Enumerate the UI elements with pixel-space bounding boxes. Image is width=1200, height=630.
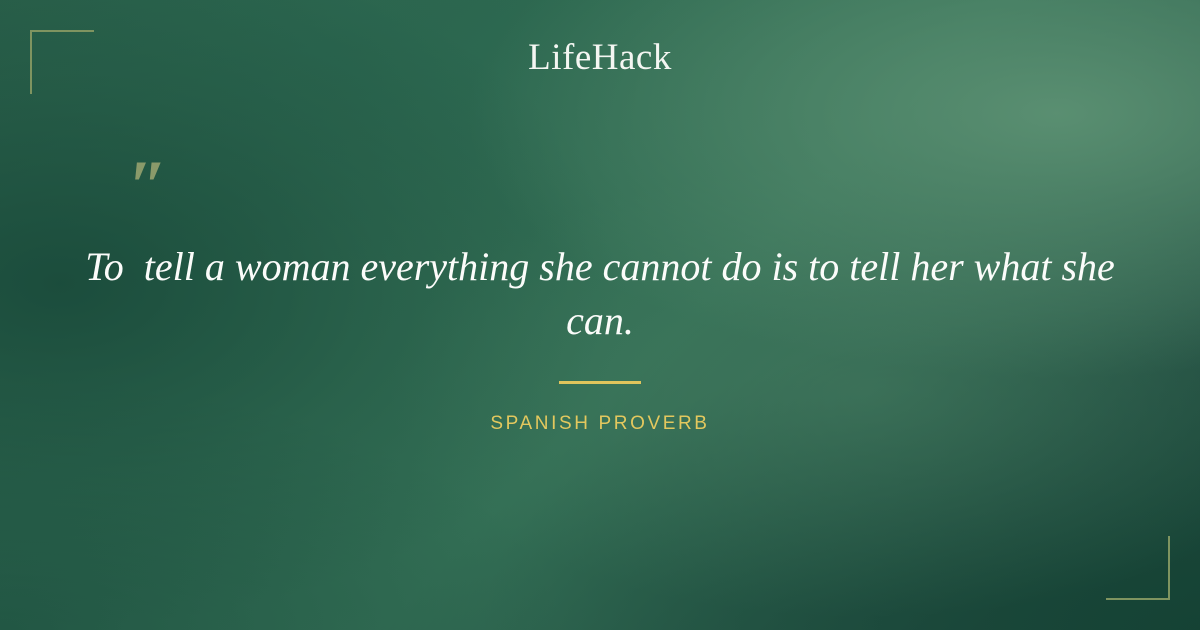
attribution-divider xyxy=(559,381,641,384)
quote-attribution: SPANISH PROVERB xyxy=(0,413,1200,435)
quote-card: LifeHack ″ To tell a woman everything sh… xyxy=(0,0,1200,630)
quotation-mark-icon: ″ xyxy=(128,150,168,222)
brand-logo: LifeHack xyxy=(0,36,1200,79)
corner-bracket-bottom-right xyxy=(1106,536,1170,600)
quote-text: To tell a woman everything she cannot do… xyxy=(80,240,1120,347)
